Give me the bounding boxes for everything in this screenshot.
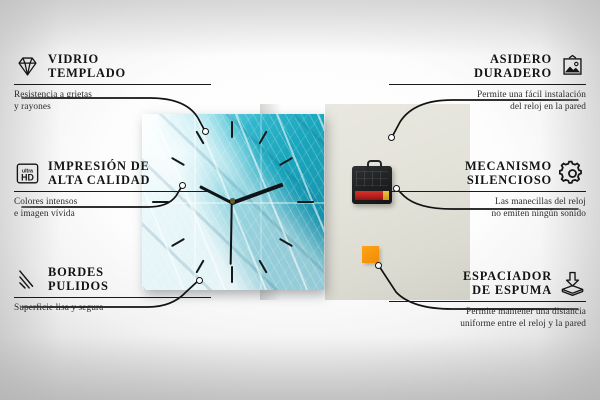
feature-title-line2: ALTA CALIDAD xyxy=(48,173,150,187)
feature-title-line2: DURADERO xyxy=(474,66,552,80)
clock-hand-hub xyxy=(230,199,235,204)
feature-desc-line1: Permite mantener una distancia xyxy=(389,306,586,318)
feature-description: Permite una fácil instalación del reloj … xyxy=(389,89,586,113)
feature-asidero-duradero: ASIDERO DURADERO Permite una fácil insta… xyxy=(389,52,586,113)
feature-title-line1: VIDRIO xyxy=(48,52,126,66)
foam-spacer-piece xyxy=(362,246,379,263)
feature-desc-line1: Colores intensos xyxy=(14,196,211,208)
feature-desc-line2: no emiten ningún sonido xyxy=(389,208,586,220)
connector-dot-1 xyxy=(202,128,209,135)
feature-divider xyxy=(389,191,586,192)
gear-icon xyxy=(559,160,586,187)
feature-title-line2: DE ESPUMA xyxy=(463,283,552,297)
feature-divider xyxy=(389,84,586,85)
feature-divider xyxy=(389,301,586,302)
feature-description: Superficie lisa y segura xyxy=(14,302,211,314)
feature-description: Permite mantener una distancia uniforme … xyxy=(389,306,586,330)
feature-heading-row: ESPACIADOR DE ESPUMA xyxy=(389,269,586,298)
feature-title-line2: PULIDOS xyxy=(48,279,109,293)
feature-desc-line1: Superficie lisa y segura xyxy=(14,302,211,314)
feature-title-line1: ASIDERO xyxy=(474,52,552,66)
mechanism-body-detail xyxy=(356,171,388,186)
clock-mechanism xyxy=(352,166,392,204)
feature-espaciador-de-espuma: ESPACIADOR DE ESPUMA Permite mantener un… xyxy=(389,269,586,330)
feature-desc-line1: Las manecillas del reloj xyxy=(389,196,586,208)
feature-title-line1: MECANISMO xyxy=(465,159,552,173)
mechanism-hanger-loop xyxy=(367,160,382,170)
feature-title: BORDES PULIDOS xyxy=(48,265,109,294)
feature-title: ESPACIADOR DE ESPUMA xyxy=(463,269,552,298)
ultra-hd-icon: ultra HD xyxy=(14,160,41,187)
feature-heading-row: ultra HD IMPRESIÓN DE ALTA CALIDAD xyxy=(14,159,211,188)
connector-dot-4 xyxy=(388,134,395,141)
feature-title: ASIDERO DURADERO xyxy=(474,52,552,81)
feature-bordes-pulidos: BORDES PULIDOS Superficie lisa y segura xyxy=(14,265,211,314)
feature-desc-line2: del reloj en la pared xyxy=(389,101,586,113)
feature-title-line2: SILENCIOSO xyxy=(465,173,552,187)
feature-description: Resistencia a grietas y rayones xyxy=(14,89,211,113)
feature-heading-row: BORDES PULIDOS xyxy=(14,265,211,294)
picture-hanger-icon xyxy=(559,53,586,80)
feature-title-line1: ESPACIADOR xyxy=(463,269,552,283)
feature-title: IMPRESIÓN DE ALTA CALIDAD xyxy=(48,159,150,188)
feature-title: VIDRIO TEMPLADO xyxy=(48,52,126,81)
clock-tick-6 xyxy=(231,266,233,283)
clock-tick-3 xyxy=(297,201,314,203)
svg-text:HD: HD xyxy=(21,172,34,182)
infographic-canvas: VIDRIO TEMPLADO Resistencia a grietas y … xyxy=(0,0,600,400)
clock-tick-12 xyxy=(231,121,233,138)
feature-title-line1: BORDES xyxy=(48,265,109,279)
feature-desc-line1: Permite una fácil instalación xyxy=(389,89,586,101)
feature-heading-row: ASIDERO DURADERO xyxy=(389,52,586,81)
feature-vidrio-templado: VIDRIO TEMPLADO Resistencia a grietas y … xyxy=(14,52,211,113)
feature-impresion-alta-calidad: ultra HD IMPRESIÓN DE ALTA CALIDAD Color… xyxy=(14,159,211,220)
feature-desc-line2: y rayones xyxy=(14,101,211,113)
feature-description: Colores intensos e imagen vívida xyxy=(14,196,211,220)
battery xyxy=(355,191,389,200)
feature-title-line2: TEMPLADO xyxy=(48,66,126,80)
feature-desc-line2: uniforme entre el reloj y la pared xyxy=(389,318,586,330)
feature-divider xyxy=(14,84,211,85)
feature-title-line1: IMPRESIÓN DE xyxy=(48,159,150,173)
foam-spacer-icon xyxy=(559,270,586,297)
feature-desc-line2: e imagen vívida xyxy=(14,208,211,220)
feature-heading-row: MECANISMO SILENCIOSO xyxy=(389,159,586,188)
connector-dot-6 xyxy=(375,262,382,269)
feature-description: Las manecillas del reloj no emiten ningú… xyxy=(389,196,586,220)
feature-divider xyxy=(14,297,211,298)
polished-edges-icon xyxy=(14,266,41,293)
feature-divider xyxy=(14,191,211,192)
diamond-icon xyxy=(14,53,41,80)
feature-heading-row: VIDRIO TEMPLADO xyxy=(14,52,211,81)
feature-desc-line1: Resistencia a grietas xyxy=(14,89,211,101)
feature-title: MECANISMO SILENCIOSO xyxy=(465,159,552,188)
feature-mecanismo-silencioso: MECANISMO SILENCIOSO Las manecillas del … xyxy=(389,159,586,220)
